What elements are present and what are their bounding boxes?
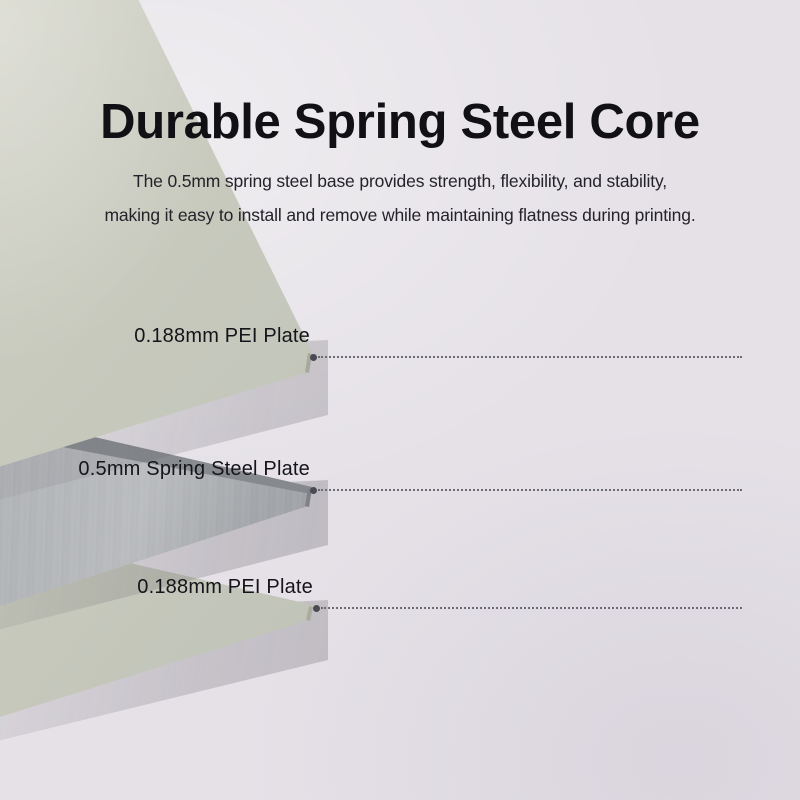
callout-anchor-dot-icon (310, 487, 317, 494)
callout-label-bottom-pei: 0.188mm PEI Plate (137, 576, 313, 599)
page-title: Durable Spring Steel Core (0, 94, 800, 150)
callout-anchor-dot-icon (313, 605, 320, 612)
subtitle-line-1: The 0.5mm spring steel base provides str… (0, 171, 800, 192)
callout-anchor-dot-icon (310, 354, 317, 361)
product-infographic: Durable Spring Steel Core The 0.5mm spri… (0, 0, 800, 800)
callout-label-spring-steel: 0.5mm Spring Steel Plate (78, 458, 310, 481)
callout-leader-line (321, 607, 742, 609)
callout-leader-line (318, 356, 742, 358)
subtitle-line-2: making it easy to install and remove whi… (0, 205, 800, 226)
callout-leader-line (318, 489, 742, 491)
callout-label-top-pei: 0.188mm PEI Plate (134, 325, 310, 348)
